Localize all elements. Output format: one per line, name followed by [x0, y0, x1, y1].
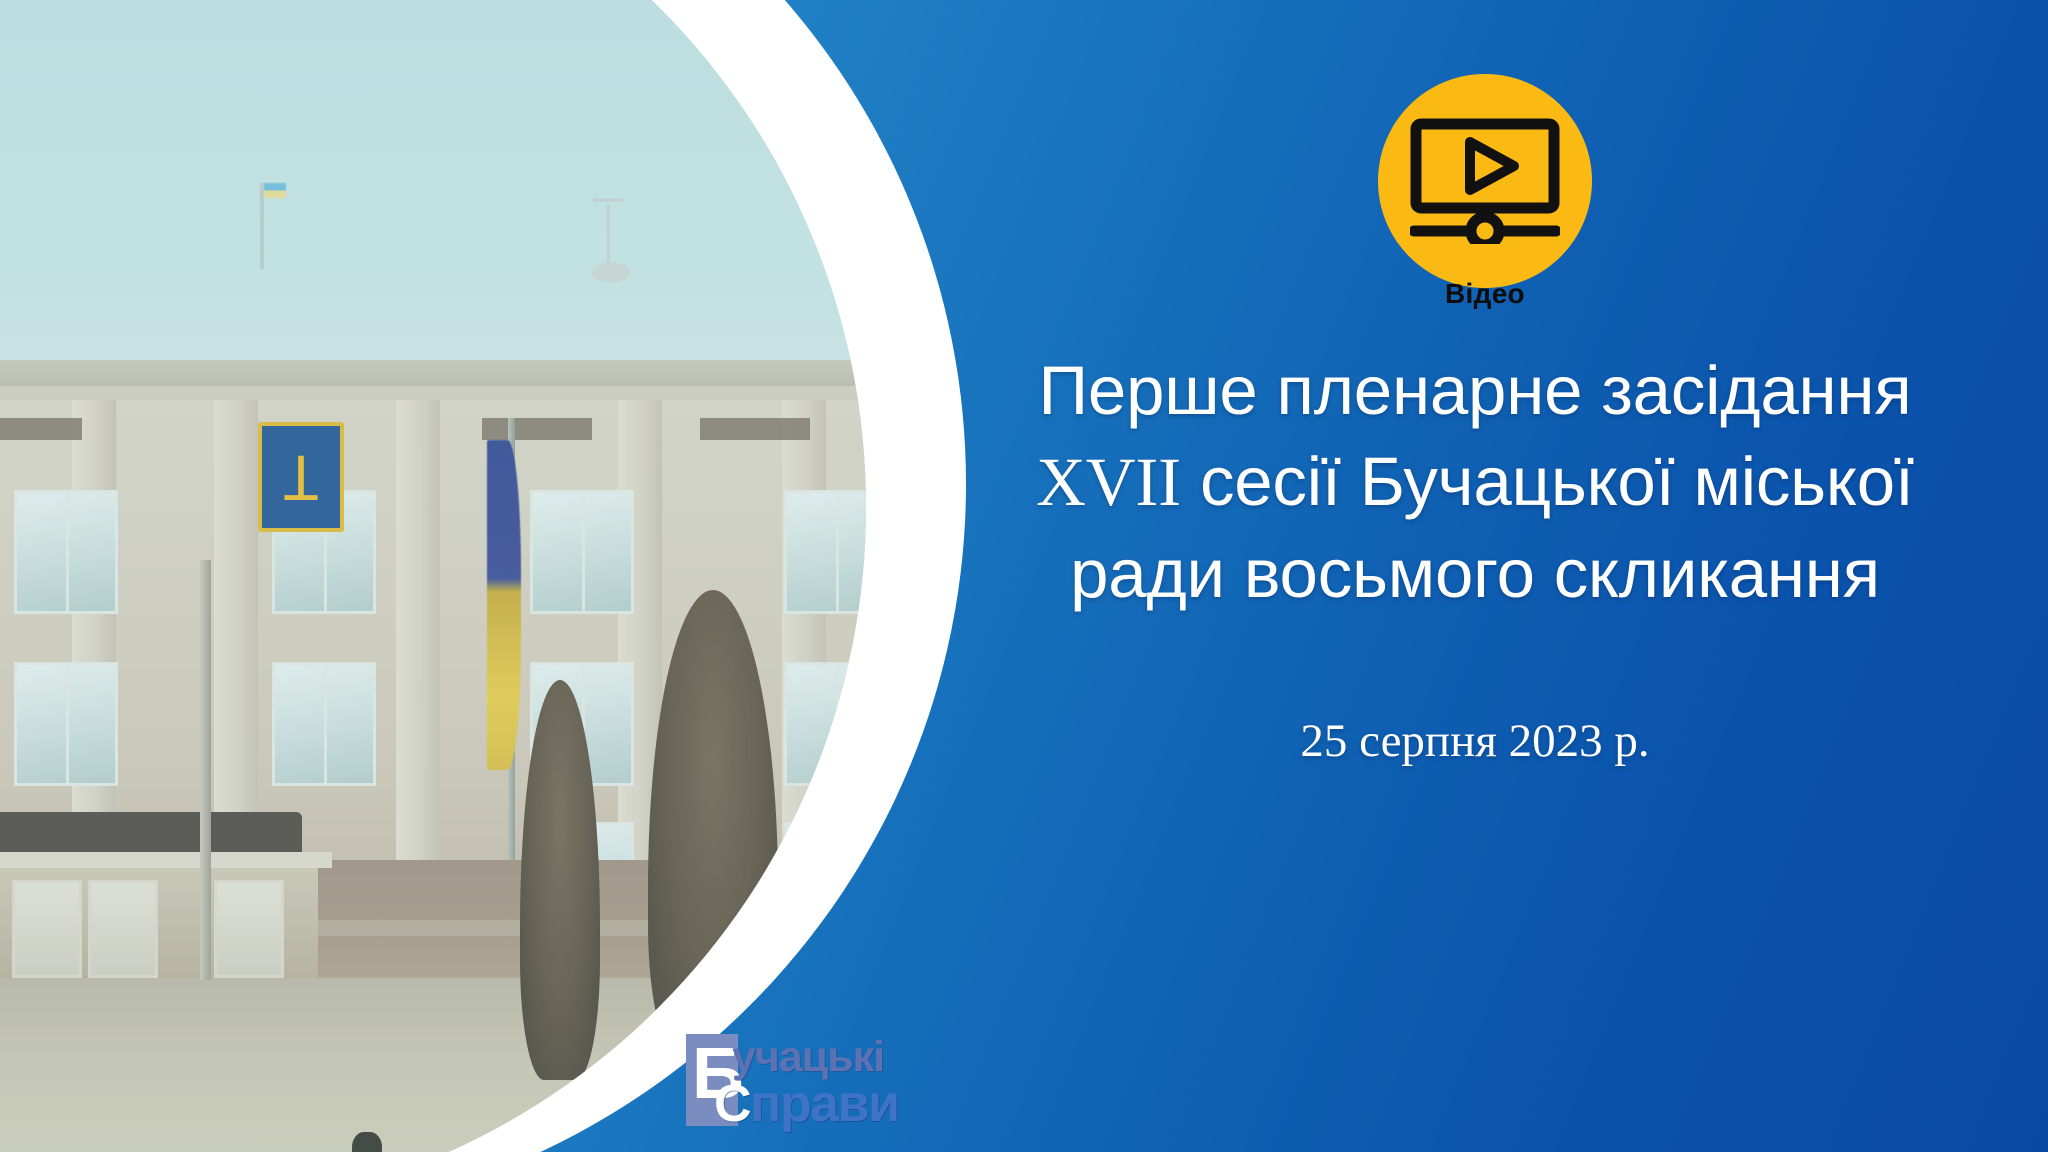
event-date: 25 серпня 2023 р.: [990, 714, 1960, 768]
headline-line-1: Перше пленарне засідання: [990, 345, 1960, 436]
logo-bottom-leading: С: [714, 1075, 750, 1133]
photo-tint: [0, 0, 866, 1152]
slide-canvas: Ʇ: [0, 0, 2048, 1152]
building-photo-circle: Ʇ: [0, 0, 866, 1152]
building-photo: Ʇ: [0, 0, 866, 1152]
headline-line-2: XVII сесії Бучацької міської: [990, 436, 1960, 528]
video-badge-label: Відео: [1378, 278, 1592, 310]
logo-bottom-rest: прави: [750, 1075, 899, 1133]
video-badge[interactable]: [1378, 74, 1592, 288]
buchatski-spravy-logo: Б учацькі Справи: [686, 1034, 876, 1132]
roman-numeral: XVII: [1036, 444, 1181, 520]
headline-line-3: ради восьмого скликання: [990, 528, 1960, 619]
logo-bottom-text: Справи: [714, 1078, 899, 1130]
logo-top-text: учацькі: [732, 1036, 884, 1079]
video-player-icon: [1410, 118, 1560, 244]
headline-line-2-rest: сесії Бучацької міської: [1181, 443, 1914, 520]
page-title: Перше пленарне засідання XVII сесії Буча…: [990, 345, 1960, 619]
